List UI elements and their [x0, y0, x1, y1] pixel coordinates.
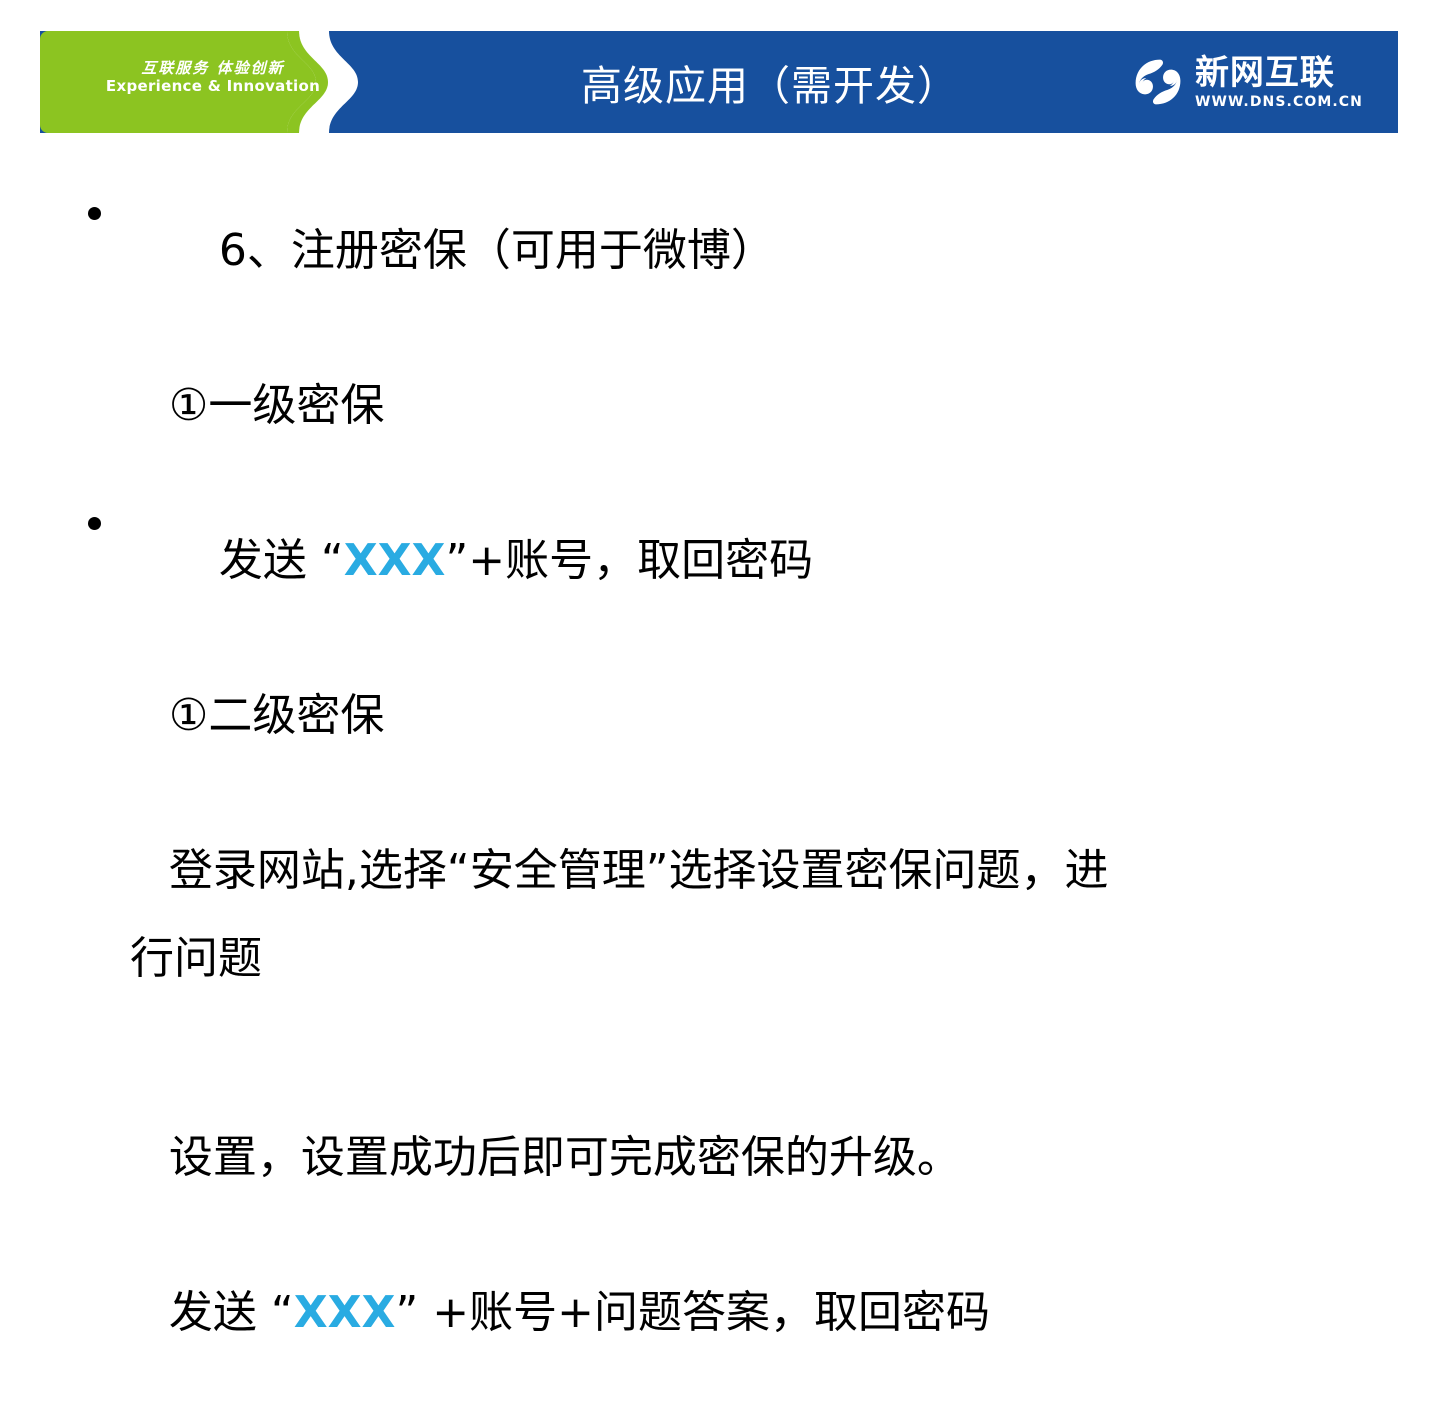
content-line-level2-sms: 发送 “XXX” +账号+问题答案，取回密码 [0, 1247, 1440, 1379]
content-line-level2-label-text: ①二级密保 [169, 690, 384, 741]
content-line-level2-steps-text: 登录网站,选择“安全管理”选择设置密保问题，进 [169, 845, 1109, 896]
sms-keyword: XXX [344, 535, 446, 586]
sms2-prefix: 发送 “ [169, 1287, 294, 1338]
content-line-heading: 6、注册密保（可用于微博） [0, 185, 1440, 317]
slide-title: 高级应用（需开发） [420, 31, 1120, 133]
slide-header: 互联服务 体验创新 Experience & Innovation 高级应用（需… [40, 31, 1398, 133]
sms-suffix: ”+账号，取回密码 [445, 535, 813, 586]
content-line-level2-steps-continuation: 行问题 [85, 937, 1375, 981]
slide-canvas: 互联服务 体验创新 Experience & Innovation 高级应用（需… [0, 0, 1440, 1080]
sms-prefix: 发送 “ [219, 535, 344, 586]
brand-name: 新网互联 [1195, 56, 1363, 90]
content-line-level1-label-text: ①一级密保 [169, 380, 384, 431]
content-line-level1-sms: 发送 “XXX”+账号，取回密码 [0, 495, 1440, 627]
slide-body: 6、注册密保（可用于微博） ①一级密保 发送 “XXX”+账号，取回密码 ①二级… [0, 185, 1440, 1402]
bullet-dot-icon [88, 517, 101, 530]
content-line-level2-finish: 设置，设置成功后即可完成密保的升级。 [0, 1092, 1440, 1224]
bullet-dot-icon [88, 207, 101, 220]
sms2-keyword: XXX [294, 1287, 396, 1338]
brand-logo-group: 新网互联 WWW.DNS.COM.CN [1130, 43, 1363, 121]
brand-text-group: 新网互联 WWW.DNS.COM.CN [1195, 56, 1363, 109]
brand-website-url: WWW.DNS.COM.CN [1195, 95, 1363, 109]
dns-swirl-logo-icon [1130, 54, 1186, 110]
content-line-level1-label: ①一级密保 [0, 340, 1440, 472]
content-line-heading-text: 6、注册密保（可用于微博） [219, 225, 775, 276]
sms2-suffix: ” +账号+问题答案，取回密码 [395, 1287, 990, 1338]
content-line-level2-finish-text: 设置，设置成功后即可完成密保的升级。 [169, 1132, 961, 1183]
content-line-level2-steps: 登录网站,选择“安全管理”选择设置密保问题，进 行问题 [0, 805, 1375, 1069]
content-line-level2-label: ①二级密保 [0, 650, 1440, 782]
header-green-panel [40, 31, 328, 133]
